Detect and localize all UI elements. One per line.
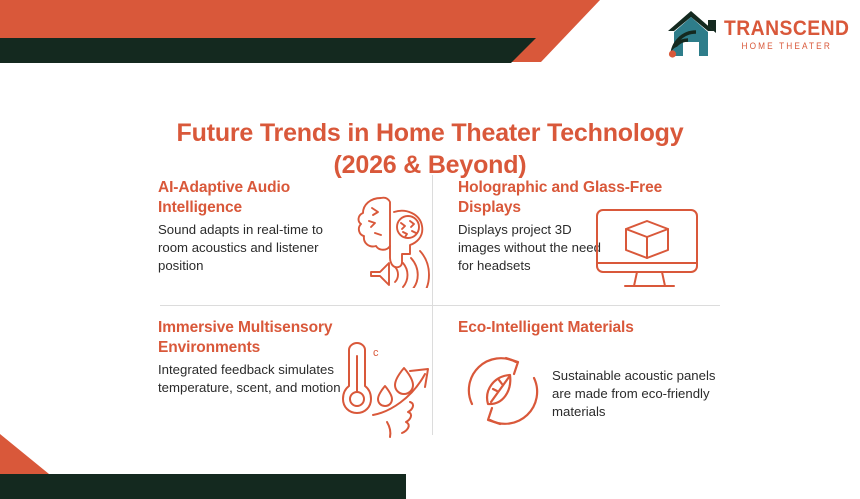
- brain-head-soundwaves-icon: [350, 188, 434, 288]
- trend-card-content-row: Sustainable acoustic panels are made fro…: [458, 341, 726, 422]
- trend-card-body: Sustainable acoustic panels are made fro…: [552, 367, 726, 422]
- recycle-leaf-icon: [460, 348, 546, 432]
- trend-card-body: Displays project 3D images without the n…: [458, 221, 608, 276]
- svg-text:c: c: [373, 347, 379, 359]
- trend-card-grid: AI-Adaptive Audio Intelligence Sound ada…: [0, 0, 860, 499]
- trend-card-body: Sound adapts in real-time to room acoust…: [158, 221, 338, 276]
- trend-card-title: Eco-Intelligent Materials: [458, 318, 726, 338]
- trend-card-immersive-multisensory-environments: Immersive Multisensory Environments Inte…: [158, 318, 430, 443]
- monitor-3d-cube-icon: [592, 206, 707, 296]
- trend-card-title: AI-Adaptive Audio Intelligence: [158, 178, 353, 218]
- thermometer-droplets-arrow-icon: c: [340, 342, 440, 440]
- infographic-canvas: TRANSCEND HOME THEATER Future Trends in …: [0, 0, 860, 499]
- trend-card-body: Integrated feedback simulates temperatur…: [158, 361, 348, 397]
- trend-card-eco-intelligent-materials: Eco-Intelligent Materials: [458, 318, 726, 438]
- trend-card-holographic-and-glass-free-displays: Holographic and Glass-Free Displays Disp…: [458, 178, 726, 298]
- dark-green-footer-bar: [0, 474, 406, 499]
- trend-card-ai-adaptive-audio-intelligence: AI-Adaptive Audio Intelligence Sound ada…: [158, 178, 426, 298]
